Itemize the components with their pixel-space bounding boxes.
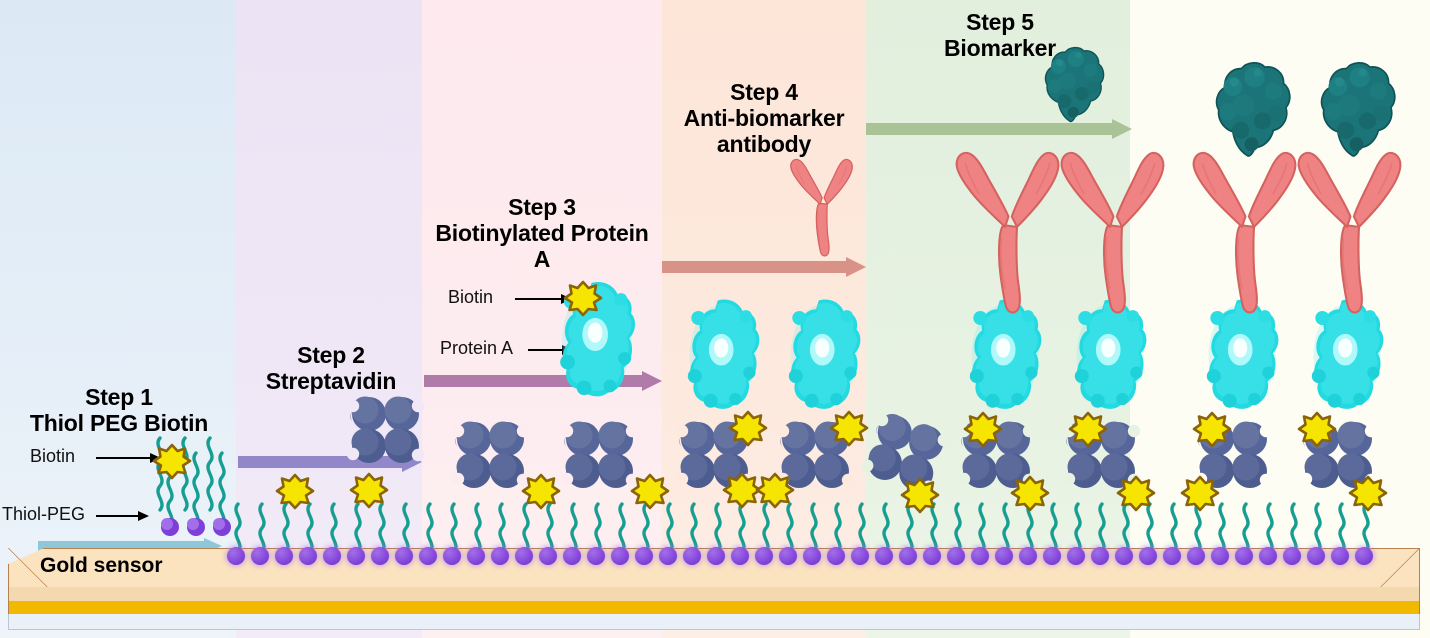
sensor-mid-layer xyxy=(8,587,1420,602)
streptavidin-tetramer xyxy=(347,397,424,464)
final-assembly-2 xyxy=(1299,63,1401,510)
step5-assembly-2 xyxy=(1062,153,1164,510)
gold-sensor-substrate: Gold sensor xyxy=(8,548,1420,630)
step2-biotin-stars xyxy=(277,474,387,508)
streptavidin-tetramer xyxy=(452,422,529,489)
sensor-gold-layer xyxy=(8,601,1420,615)
step1-demo-molecules xyxy=(154,445,231,536)
biosensor-assembly-diagram: Step 1 Thiol PEG Biotin Step 2 Streptavi… xyxy=(0,0,1430,638)
final-assembly-1 xyxy=(1182,63,1295,510)
step3-bound-streptavidin xyxy=(452,422,668,509)
sensor-base-layer xyxy=(8,614,1420,630)
step4-assembly-1 xyxy=(676,300,766,507)
sensor-top-layer xyxy=(8,548,1420,588)
peg-monolayer xyxy=(236,504,1368,552)
sensor-right-bevel xyxy=(1380,548,1420,588)
streptavidin-tetramer xyxy=(859,409,953,496)
step5-free-biomarker xyxy=(1045,48,1103,122)
step5-free-streptavidin xyxy=(859,409,953,512)
step3-free-protein-a xyxy=(560,282,635,396)
streptavidin-tetramer xyxy=(561,422,638,489)
gold-sensor-label: Gold sensor xyxy=(40,554,163,578)
step4-free-antibody xyxy=(791,159,853,255)
step2-free-streptavidin xyxy=(347,397,424,464)
step5-assembly-1 xyxy=(957,153,1059,510)
step4-assembly-2 xyxy=(757,300,867,507)
assembly-layer xyxy=(0,0,1430,638)
